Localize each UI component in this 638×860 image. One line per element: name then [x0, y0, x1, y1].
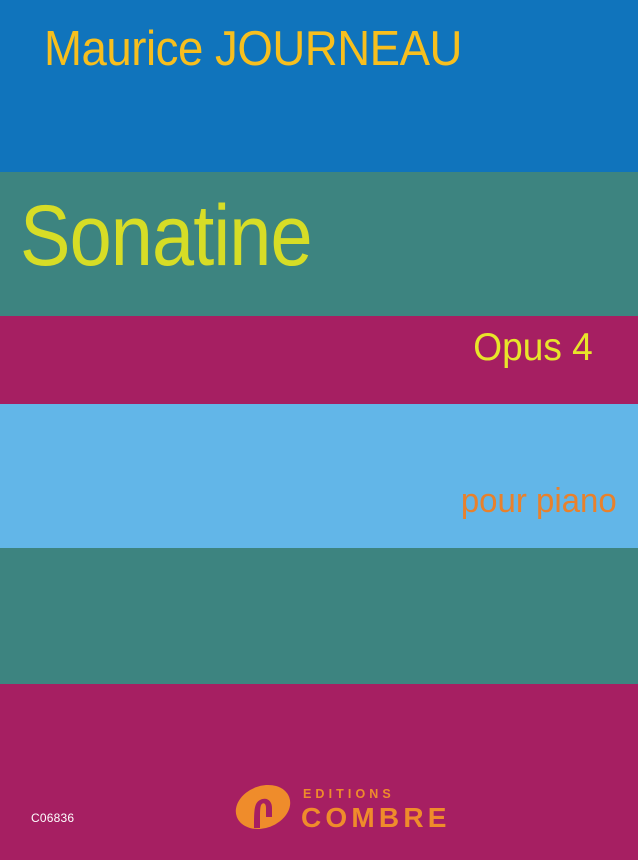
sheet-music-cover: Maurice JOURNEAU Sonatine Opus 4 pour pi… — [0, 0, 638, 860]
instrumentation-label: pour piano — [461, 484, 617, 518]
page-title: Sonatine — [20, 193, 312, 279]
opus-number: Opus 4 — [474, 328, 593, 367]
color-band-teal-bottom — [0, 548, 638, 684]
publisher-logo: EDITIONS COMBRE — [234, 779, 534, 841]
combre-leaf-logo-icon — [234, 781, 292, 839]
publisher-line-editions: EDITIONS — [303, 788, 451, 801]
publisher-line-combre: COMBRE — [301, 804, 451, 832]
color-band-lightblue — [0, 404, 638, 548]
publisher-name: EDITIONS COMBRE — [301, 788, 451, 833]
catalog-number: C06836 — [31, 811, 74, 825]
composer-name: Maurice JOURNEAU — [44, 24, 462, 75]
